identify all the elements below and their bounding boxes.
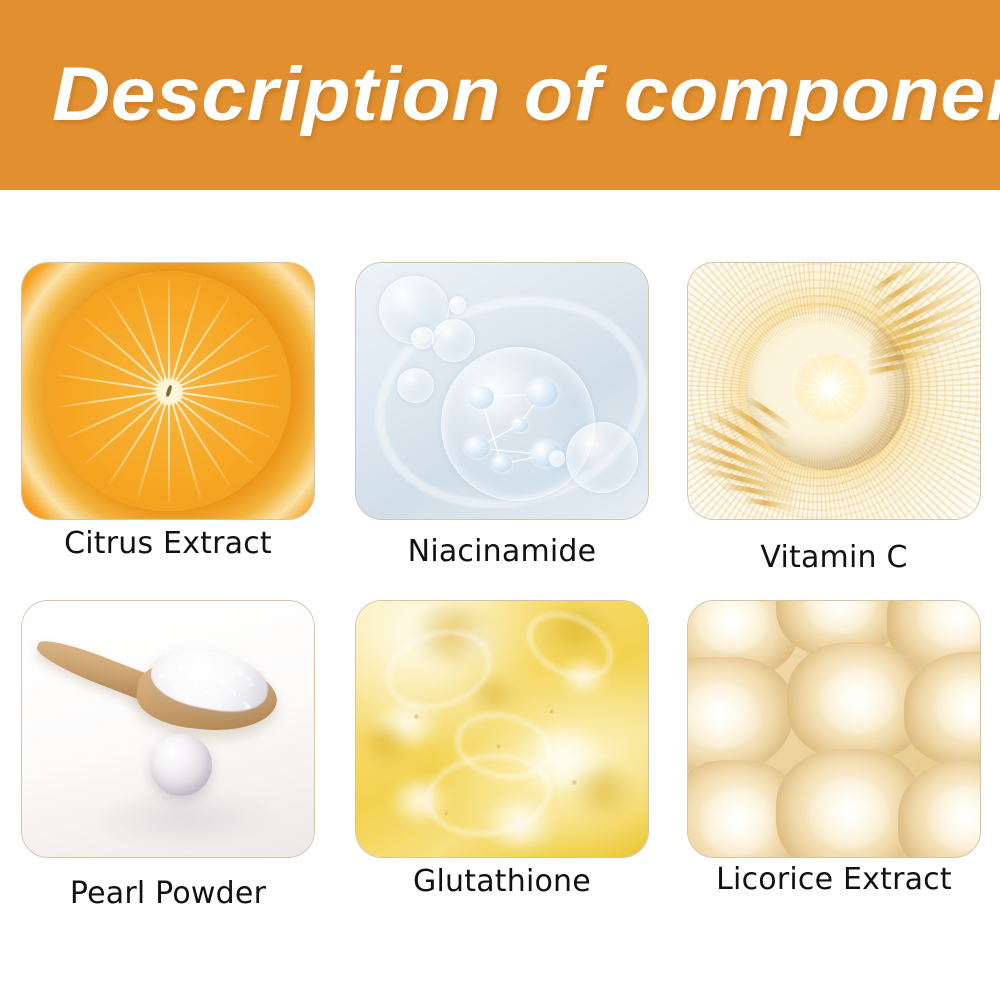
licorice-extract-image <box>688 601 980 857</box>
ingredient-label-vitamin-c: Vitamin C <box>688 537 980 579</box>
orange-segment-icon <box>168 391 170 502</box>
gel-bubble-icon <box>549 709 554 714</box>
powder-grain-icon <box>247 706 250 709</box>
gel-shadow-icon <box>362 724 409 760</box>
yellow-gel-icon <box>356 601 648 857</box>
powder-grain-icon <box>179 667 182 670</box>
molecule-node-icon <box>465 437 490 458</box>
ingredient-label-licorice-extract: Licorice Extract <box>688 859 980 901</box>
molecule-node-icon <box>512 418 528 432</box>
bubble-icon <box>432 319 475 362</box>
cell-glow-icon <box>934 677 980 740</box>
header-banner: Description of component <box>0 0 1000 190</box>
powder-grain-icon <box>220 680 226 686</box>
page-title: Description of component <box>52 50 1000 140</box>
powder-grain-icon <box>250 682 255 687</box>
powder-grain-icon <box>238 671 244 677</box>
niacinamide-image <box>356 263 648 519</box>
powder-grain-icon <box>204 691 207 694</box>
powder-grain-icon <box>217 704 222 709</box>
orange-segment-icon <box>168 391 201 498</box>
ingredient-card-glutathione[interactable]: Glutathione <box>356 601 648 903</box>
powder-grain-icon <box>191 677 193 679</box>
ingredient-card-niacinamide[interactable]: Niacinamide <box>356 263 648 573</box>
cell-glow-icon <box>688 683 761 749</box>
orange-segment-icon <box>137 391 170 498</box>
ingredient-label-pearl-powder: Pearl Powder <box>22 873 314 915</box>
ingredient-card-citrus-extract[interactable]: Citrus Extract <box>22 263 314 565</box>
orange-segment-icon <box>168 280 170 391</box>
ingredient-grid: Citrus Extract Niacinamide <box>0 190 1000 1000</box>
cell-glow-icon <box>694 601 769 653</box>
cell-glow-icon <box>818 668 896 734</box>
cell-glow-icon <box>808 778 890 850</box>
powder-grain-icon <box>205 664 207 666</box>
ingredient-card-licorice-extract[interactable]: Licorice Extract <box>688 601 980 901</box>
powder-grain-icon <box>166 653 168 655</box>
glutathione-image <box>356 601 648 857</box>
citrus-extract-image <box>22 263 314 519</box>
ingredient-label-glutathione: Glutathione <box>356 861 648 903</box>
ingredient-label-citrus-extract: Citrus Extract <box>22 523 314 565</box>
serum-droplet-icon <box>746 307 910 471</box>
gel-shadow-icon <box>572 765 636 816</box>
cell-glow-icon <box>804 601 876 634</box>
powder-grain-icon <box>163 678 169 684</box>
bubble-icon <box>397 368 434 403</box>
powder-grain-icon <box>209 669 211 671</box>
ingredient-card-pearl-powder[interactable]: Pearl Powder <box>22 601 314 915</box>
reflection-icon <box>98 790 273 846</box>
powder-grain-icon <box>174 688 179 693</box>
honeycomb-cell-icon <box>688 657 793 775</box>
cell-glow-icon <box>917 601 980 648</box>
powder-grain-icon <box>234 693 236 695</box>
bubble-icon <box>449 296 466 313</box>
orange-core-icon <box>156 379 182 405</box>
powder-grain-icon <box>192 680 197 685</box>
vitamin-c-image <box>688 263 980 519</box>
honeycomb-cells-icon <box>688 601 980 857</box>
powder-grain-icon <box>186 699 189 702</box>
gel-bubble-icon <box>444 811 449 816</box>
molecule-node-icon <box>492 455 512 472</box>
pearl-powder-image <box>22 601 314 857</box>
cell-glow-icon <box>928 786 980 852</box>
cell-glow-icon <box>700 787 775 856</box>
powder-grain-icon <box>195 655 201 661</box>
ingredient-card-vitamin-c[interactable]: Vitamin C <box>688 263 980 579</box>
ingredient-label-niacinamide: Niacinamide <box>356 531 648 573</box>
bubble-icon <box>566 422 638 493</box>
molecule-node-icon <box>526 379 558 407</box>
pearl-icon <box>150 734 211 795</box>
